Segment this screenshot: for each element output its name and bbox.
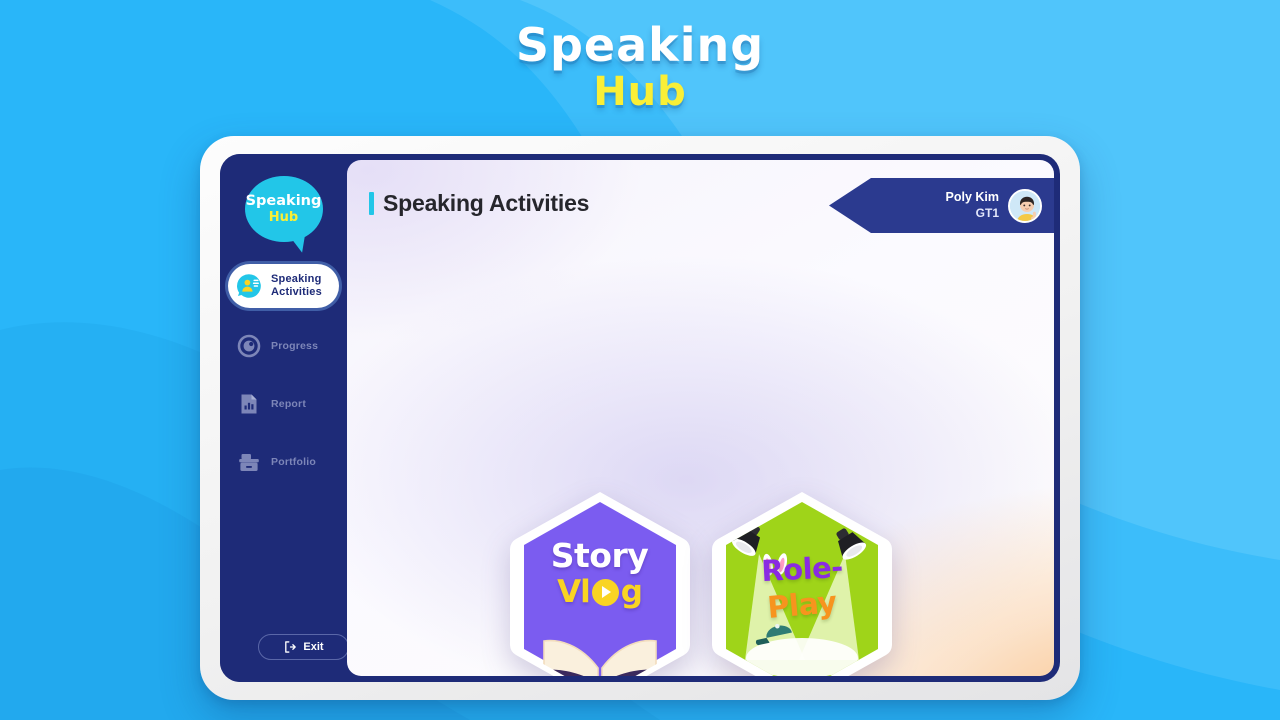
user-grade: GT1 xyxy=(946,206,1000,222)
sidebar-item-progress[interactable]: Progress xyxy=(228,324,339,368)
sidebar-logo[interactable]: Speaking Hub xyxy=(245,176,323,242)
sidebar-item-label: Progress xyxy=(271,340,318,353)
title-accent-bar xyxy=(369,192,374,215)
sidebar-logo-line-1: Speaking xyxy=(246,194,322,209)
page-title: Speaking Activities xyxy=(383,190,589,217)
page-title-row: Speaking Activities xyxy=(369,190,589,217)
student-avatar-image xyxy=(1010,191,1042,223)
user-text: Poly Kim GT1 xyxy=(946,189,1000,221)
story-vlog-hexagon xyxy=(510,492,690,676)
wordmark-line-1: Speaking xyxy=(0,22,1280,68)
exit-button-label: Exit xyxy=(303,641,323,653)
activity-card-role-play[interactable]: Role- Play xyxy=(712,492,892,676)
sidebar: Speaking Hub Speaking Activities xyxy=(220,154,347,682)
wordmark-line-2: Hub xyxy=(0,72,1280,112)
logout-icon xyxy=(283,640,297,654)
sidebar-label-line-2: Activities xyxy=(271,286,322,299)
sidebar-label-line-1: Speaking xyxy=(271,273,322,286)
sidebar-item-label: Report xyxy=(271,398,306,411)
sidebar-item-label: Speaking Activities xyxy=(271,273,322,300)
sidebar-item-label: Portfolio xyxy=(271,456,316,469)
sidebar-item-report[interactable]: Report xyxy=(228,382,339,426)
activity-card-list: Story Vl g xyxy=(347,492,1054,676)
activity-card-story-vlog[interactable]: Story Vl g xyxy=(510,492,690,676)
portfolio-folder-icon xyxy=(236,449,262,475)
role-play-hexagon xyxy=(712,492,892,676)
report-document-icon xyxy=(236,391,262,417)
tablet-device-frame: Speaking Hub Speaking Activities xyxy=(200,136,1080,700)
sidebar-item-portfolio[interactable]: Portfolio xyxy=(228,440,339,484)
tablet-screen: Speaking Hub Speaking Activities xyxy=(220,154,1060,682)
main-content: Speaking Activities Poly Kim GT1 xyxy=(347,160,1054,676)
sidebar-logo-line-2: Hub xyxy=(269,211,298,224)
app-wordmark: Speaking Hub xyxy=(0,22,1280,112)
exit-button[interactable]: Exit xyxy=(258,634,349,660)
progress-circle-icon xyxy=(236,333,262,359)
avatar[interactable] xyxy=(1008,189,1042,223)
user-name: Poly Kim xyxy=(946,189,1000,206)
user-profile-chip[interactable]: Poly Kim GT1 xyxy=(829,178,1054,233)
speaking-person-icon xyxy=(236,273,262,299)
sidebar-nav: Speaking Activities Progress xyxy=(220,264,347,498)
sidebar-item-speaking-activities[interactable]: Speaking Activities xyxy=(228,264,339,308)
